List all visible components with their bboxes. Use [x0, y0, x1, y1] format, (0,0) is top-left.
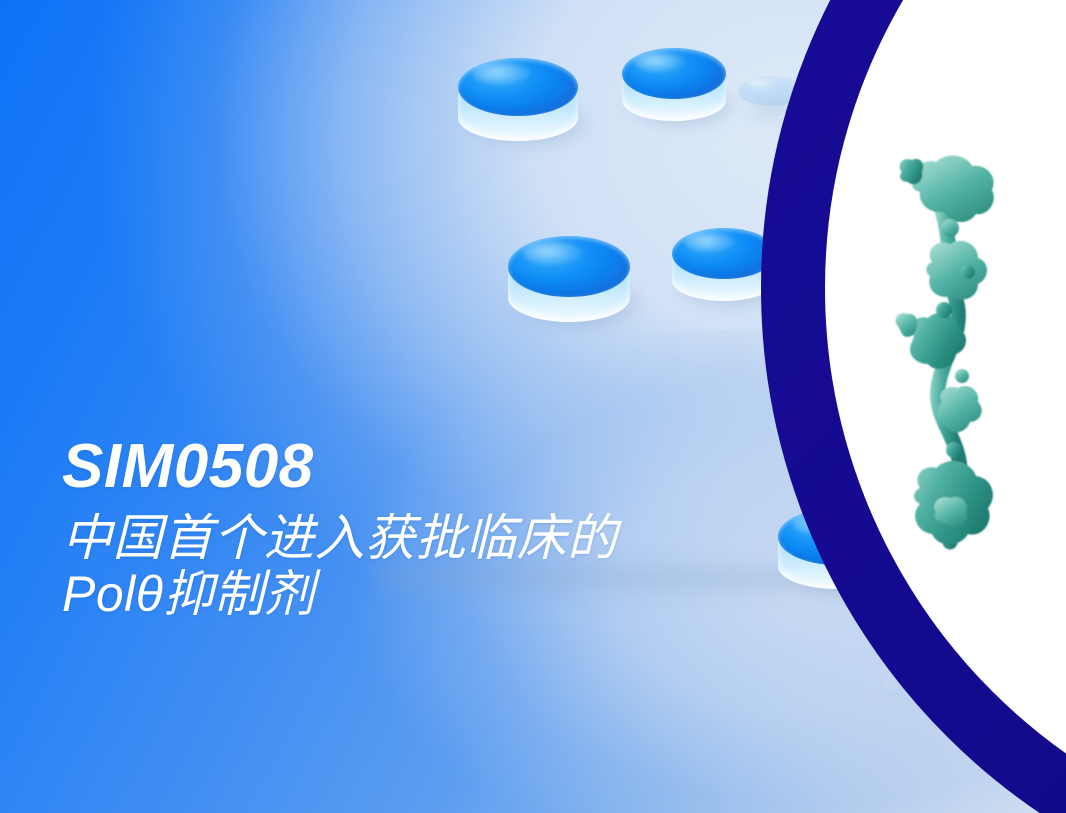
page-title: SIM0508	[62, 436, 882, 498]
subtitle-line-1: 中国首个进入获批临床的	[62, 508, 882, 568]
protein-ribbon-structure	[880, 150, 1066, 570]
subtitle-line-2: Polθ抑制剂	[62, 564, 882, 624]
poster-canvas: SIM0508 中国首个进入获批临床的 Polθ抑制剂	[0, 0, 1066, 813]
title-block: SIM0508 中国首个进入获批临床的 Polθ抑制剂	[62, 436, 882, 624]
